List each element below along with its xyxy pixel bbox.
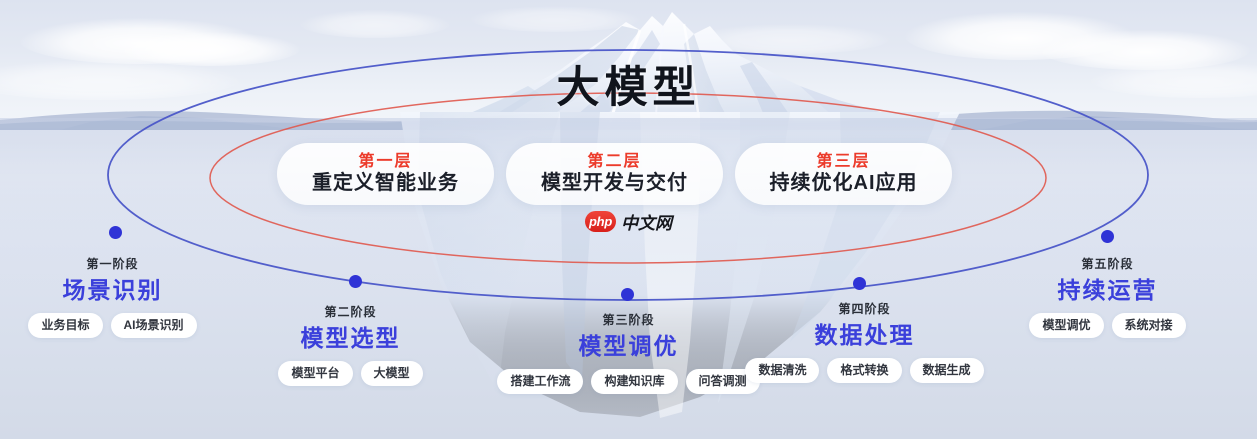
stage-tag[interactable]: AI场景识别 — [111, 313, 197, 338]
stage-block-1[interactable]: 第一阶段 场景识别 业务目标 AI场景识别 — [5, 257, 220, 338]
stage-block-2[interactable]: 第二阶段 模型选型 模型平台 大模型 — [248, 305, 453, 386]
layer-card-1[interactable]: 第一层 重定义智能业务 — [277, 143, 494, 205]
stage-tag-list: 模型平台 大模型 — [278, 361, 422, 386]
stage-tag-list: 数据清洗 格式转换 数据生成 — [745, 358, 983, 383]
stage-dot-3[interactable] — [621, 288, 634, 301]
php-watermark-logo: php 中文网 — [585, 209, 672, 234]
stage-title-label: 持续运营 — [1058, 276, 1158, 304]
stage-tag-list: 业务目标 AI场景识别 — [28, 313, 196, 338]
watermark-text: 中文网 — [621, 209, 672, 234]
stage-tag-list: 搭建工作流 构建知识库 问答调测 — [497, 369, 759, 394]
layer-level-label: 第二层 — [587, 152, 641, 171]
stage-dot-1[interactable] — [109, 226, 122, 239]
stage-block-4[interactable]: 第四阶段 数据处理 数据清洗 格式转换 数据生成 — [742, 302, 987, 383]
stage-tag[interactable]: 业务目标 — [28, 313, 102, 338]
stage-tag[interactable]: 系统对接 — [1112, 313, 1186, 338]
stage-dot-4[interactable] — [853, 277, 866, 290]
stage-sub-label: 第四阶段 — [838, 302, 890, 317]
stage-title-label: 模型选型 — [301, 324, 401, 352]
layer-level-label: 第一层 — [358, 152, 412, 171]
stage-block-5[interactable]: 第五阶段 持续运营 模型调优 系统对接 — [1000, 257, 1215, 338]
stage-tag[interactable]: 模型平台 — [278, 361, 352, 386]
layer-desc-label: 重定义智能业务 — [312, 171, 459, 196]
stage-block-3[interactable]: 第三阶段 模型调优 搭建工作流 构建知识库 问答调测 — [490, 313, 767, 394]
stage-tag[interactable]: 模型调优 — [1029, 313, 1103, 338]
php-badge-icon: php — [585, 211, 616, 232]
stage-title-label: 数据处理 — [815, 321, 915, 349]
stage-tag[interactable]: 大模型 — [361, 361, 423, 386]
infographic-canvas: 大模型 第一层 重定义智能业务 第二层 模型开发与交付 第三层 持续优化AI应用… — [0, 0, 1257, 439]
stage-tag[interactable]: 格式转换 — [827, 358, 901, 383]
stage-tag-list: 模型调优 系统对接 — [1029, 313, 1185, 338]
layer-card-3[interactable]: 第三层 持续优化AI应用 — [735, 143, 952, 205]
page-title: 大模型 — [0, 53, 1257, 115]
layer-desc-label: 持续优化AI应用 — [770, 171, 918, 196]
stage-sub-label: 第二阶段 — [324, 305, 376, 320]
stage-tag[interactable]: 数据生成 — [910, 358, 984, 383]
layer-desc-label: 模型开发与交付 — [541, 171, 688, 196]
stage-title-label: 场景识别 — [63, 276, 163, 304]
stage-tag[interactable]: 构建知识库 — [591, 369, 677, 394]
stage-sub-label: 第一阶段 — [86, 257, 138, 272]
layer-level-label: 第三层 — [816, 152, 870, 171]
stage-title-label: 模型调优 — [579, 332, 679, 360]
stage-dot-5[interactable] — [1101, 230, 1114, 243]
stage-tag[interactable]: 搭建工作流 — [497, 369, 583, 394]
stage-tag[interactable]: 数据清洗 — [745, 358, 819, 383]
stage-sub-label: 第三阶段 — [602, 313, 654, 328]
stage-dot-2[interactable] — [349, 275, 362, 288]
stage-sub-label: 第五阶段 — [1081, 257, 1133, 272]
layer-card-2[interactable]: 第二层 模型开发与交付 — [506, 143, 723, 205]
